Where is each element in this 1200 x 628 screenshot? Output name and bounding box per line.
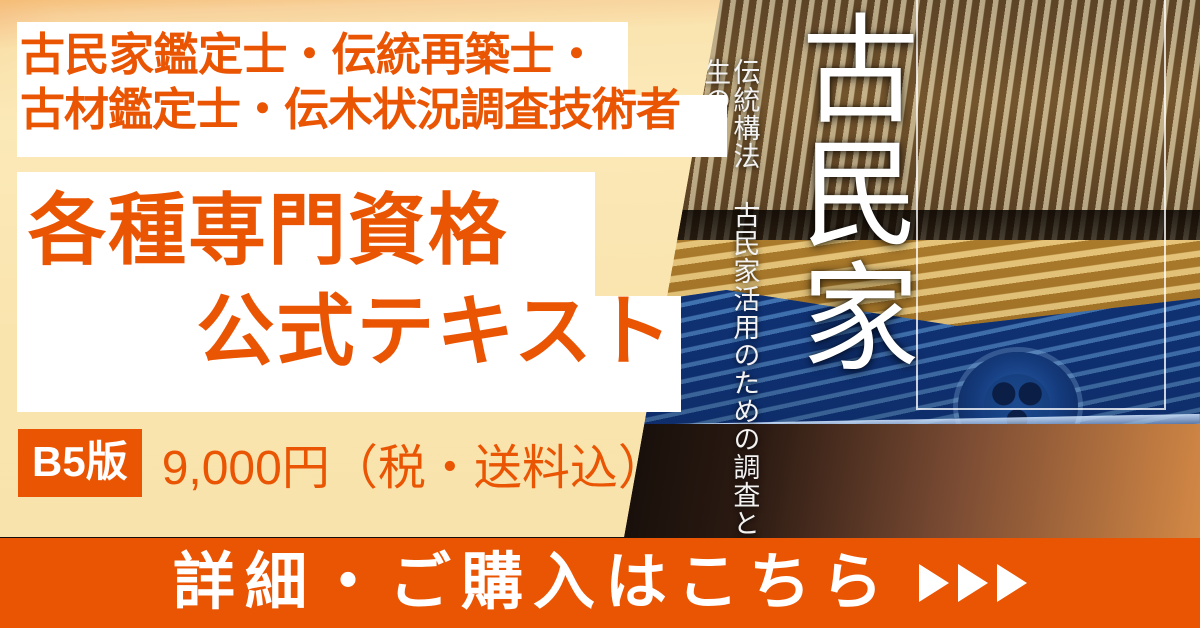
price-row: B5版 9,000円（税・送料込）	[18, 428, 666, 498]
certification-line-1: 古民家鑑定士・伝統再築士・	[20, 28, 726, 83]
size-badge: B5版	[18, 429, 142, 497]
cta-label: 詳細・ご購入はこちら	[173, 552, 893, 614]
headline-row-1: 各種専門資格	[22, 180, 682, 281]
book-cover-title: 古民家	[790, 8, 914, 380]
cta-arrow-group	[919, 564, 1027, 602]
triangle-right-icon	[997, 564, 1027, 602]
headline-row-2: 公式テキスト	[22, 281, 682, 382]
cta-bar[interactable]: 詳細・ご購入はこちら	[0, 538, 1200, 628]
triangle-right-icon	[958, 564, 988, 602]
triangle-right-icon	[919, 564, 949, 602]
certifications-list: 古民家鑑定士・伝統再築士・ 古材鑑定士・伝木状況調査技術者	[20, 28, 726, 138]
price-amount: 9,000円（税・送料込）	[162, 428, 666, 498]
page-title: 各種専門資格 公式テキスト	[22, 180, 682, 383]
book-cover-frame	[916, 0, 1166, 410]
promo-banner: 伝統構法 古民家活用のための調査と再生の 古民家 古民家鑑定士・伝統再築士・ 古…	[0, 0, 1200, 628]
certification-line-2: 古材鑑定士・伝木状況調査技術者	[20, 83, 726, 138]
